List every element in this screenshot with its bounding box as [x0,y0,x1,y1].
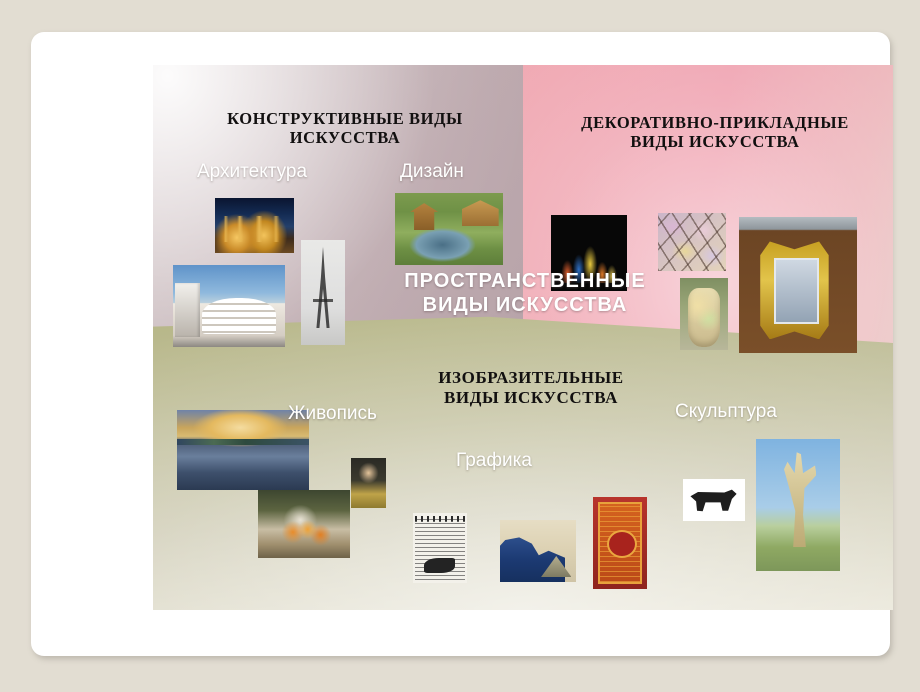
eiffel-tower-image [301,240,345,345]
heading-constructive-arts: КОНСТРУКТИВНЫЕ ВИДЫ ИСКУССТВА [195,109,495,147]
label-sculpture: Скульптура [675,401,777,423]
cathedral-at-night-art [215,198,294,253]
portrait-miniature-image [351,458,386,508]
stained-glass-panel-image [658,213,726,271]
label-design: Дизайн [400,161,464,183]
presentation-slide-card: КОНСТРУКТИВНЫЕ ВИДЫ ИСКУССТВА ДЕКОРАТИВН… [31,32,890,656]
motherland-calls-monument-art [756,439,840,571]
label-graphics: Графика [456,450,532,472]
guggenheim-museum-art [173,265,285,347]
landscape-design-garden-image [395,193,503,265]
heading-spatial-arts: ПРОСТРАНСТВЕННЫЕ ВИДЫ ИСКУССТВА [375,270,675,317]
carved-gilded-window-frame-image [739,217,857,353]
decorated-ceramic-vase-art [680,278,728,350]
stained-glass-panel-art [658,213,726,271]
motherland-calls-monument-image [756,439,840,571]
eiffel-tower-art [301,240,345,345]
great-wave-woodblock-print-image [500,520,576,582]
landscape-design-garden-art [395,193,503,265]
carved-gilded-window-frame-art [739,217,857,353]
ornate-red-book-cover-image [593,497,647,589]
still-life-with-oranges-image [258,490,350,558]
decorated-ceramic-vase-image [680,278,728,350]
black-and-white-book-illustration-art [413,513,467,583]
cathedral-at-night-image [215,198,294,253]
heading-pictorial-arts: ИЗОБРАЗИТЕЛЬНЫЕ ВИДЫ ИСКУССТВА [391,368,671,407]
heading-decorative-arts: ДЕКОРАТИВНО-ПРИКЛАДНЫЕ ВИДЫ ИСКУССТВА [549,113,881,151]
still-life-with-oranges-art [258,490,350,558]
great-wave-woodblock-print-art [500,520,576,582]
bull-sculpture-art [683,479,745,521]
portrait-miniature-art [351,458,386,508]
guggenheim-museum-image [173,265,285,347]
black-and-white-book-illustration-image [413,513,467,583]
slide-content-image: КОНСТРУКТИВНЫЕ ВИДЫ ИСКУССТВА ДЕКОРАТИВН… [153,65,893,610]
label-architecture: Архитектура [197,161,307,183]
ornate-red-book-cover-art [593,497,647,589]
label-painting: Живопись [288,403,377,425]
bull-sculpture-image [683,479,745,521]
